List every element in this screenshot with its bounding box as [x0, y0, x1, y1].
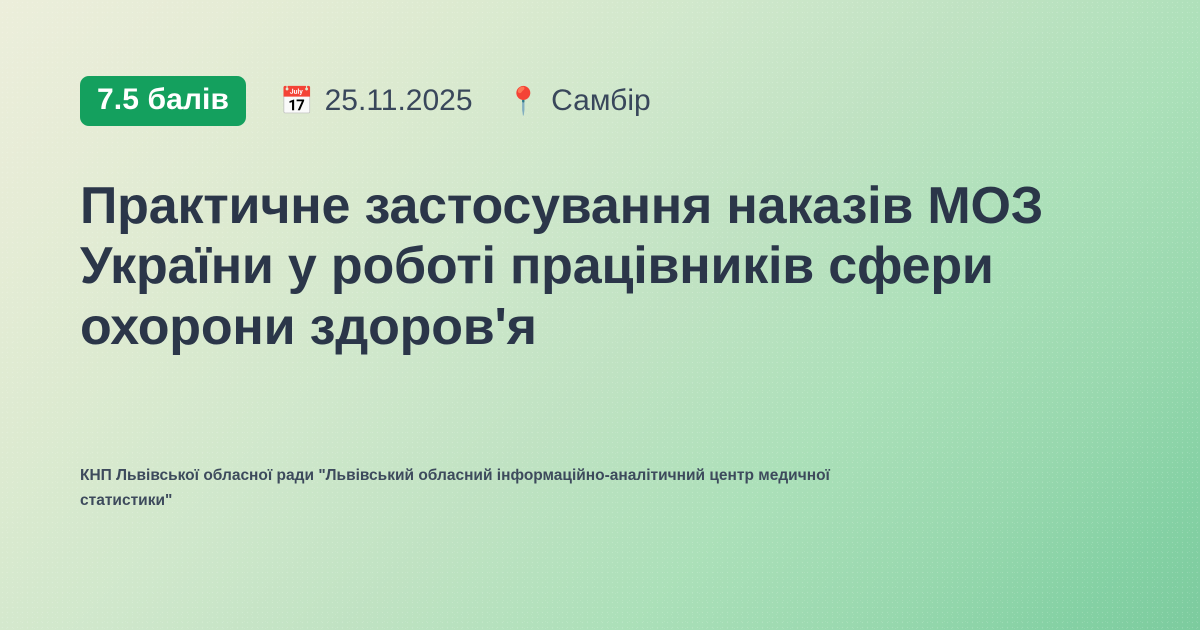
- event-title: Практичне застосування наказів МОЗ Украї…: [80, 176, 1120, 357]
- points-badge: 7.5 балів: [80, 76, 246, 126]
- event-date: 📅 25.11.2025: [280, 86, 473, 116]
- organizer-name: КНП Львівської обласної ради "Львівський…: [80, 463, 880, 514]
- layout-spacer: [80, 392, 1120, 463]
- meta-row: 7.5 балів 📅 25.11.2025 📍 Самбір: [80, 78, 1120, 124]
- event-location: 📍 Самбір: [507, 86, 651, 116]
- location-pin-icon: 📍: [507, 88, 541, 115]
- event-date-value: 25.11.2025: [325, 86, 473, 116]
- card-content: 7.5 балів 📅 25.11.2025 📍 Самбір Практичн…: [0, 0, 1200, 630]
- calendar-icon: 📅: [280, 88, 314, 115]
- event-location-value: Самбір: [551, 86, 651, 116]
- event-card: 7.5 балів 📅 25.11.2025 📍 Самбір Практичн…: [0, 0, 1200, 630]
